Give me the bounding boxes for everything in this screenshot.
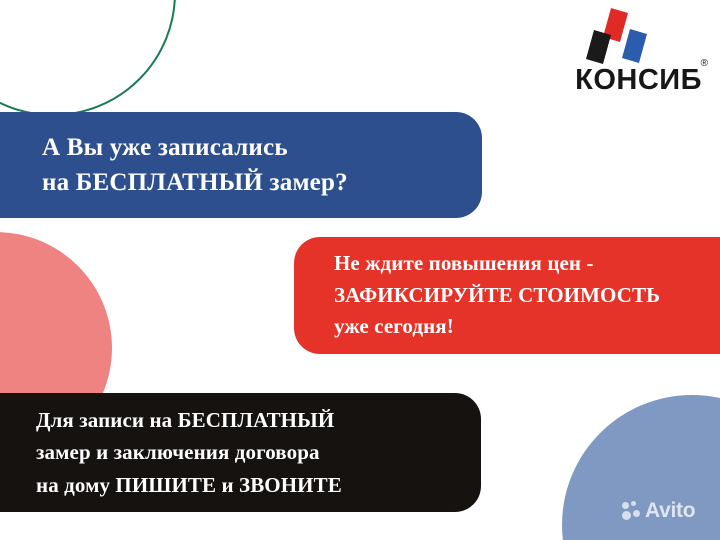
banner-black-contact-call-to-action: Для записи на БЕСПЛАТНЫЙ замер и заключе… — [0, 393, 481, 512]
brand-wordmark: КОНСИБ — [575, 66, 702, 95]
banner-red-line-1: Не ждите повышения цен - — [334, 248, 720, 280]
registered-mark: ® — [701, 58, 708, 69]
promo-poster: КОНСИБ ® А Вы уже записались на БЕСПЛАТН… — [0, 0, 720, 540]
banner-black-line-2: замер и заключения договора — [36, 436, 481, 469]
green-ring-decoration — [0, 0, 176, 116]
banner-black-line-3: на дому ПИШИТЕ и ЗВОНИТЕ — [36, 469, 481, 502]
brand-logo: КОНСИБ ® — [544, 8, 708, 104]
banner-blue-line-2: на БЕСПЛАТНЫЙ замер? — [42, 165, 482, 201]
banner-black-line-1: Для записи на БЕСПЛАТНЫЙ — [36, 404, 481, 437]
konsib-logo-mark-icon — [580, 8, 660, 66]
banner-red-price-lock: Не ждите повышения цен - ЗАФИКСИРУЙТЕ СТ… — [294, 237, 720, 354]
banner-red-line-3: уже сегодня! — [334, 311, 720, 343]
avito-watermark: Avito — [622, 500, 695, 521]
banner-blue-line-1: А Вы уже записались — [42, 130, 482, 166]
banner-blue-free-measurement: А Вы уже записались на БЕСПЛАТНЫЙ замер? — [0, 112, 482, 218]
avito-dots-icon — [622, 501, 641, 520]
avito-wordmark: Avito — [645, 500, 695, 521]
banner-red-line-2: ЗАФИКСИРУЙТЕ СТОИМОСТЬ — [334, 280, 720, 312]
